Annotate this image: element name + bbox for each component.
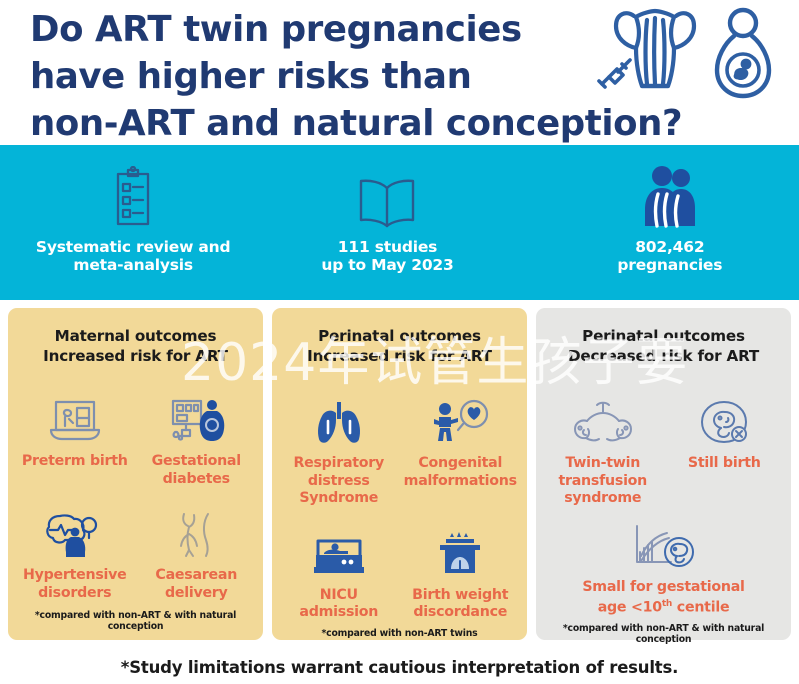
outcome-label-line: Caesarean [138, 567, 256, 585]
page-title: Do ART twin pregnancies have higher risk… [30, 6, 620, 147]
uterus-syringe-icon [592, 4, 710, 100]
outcome-label-line: Syndrome [280, 490, 398, 508]
glucose-monitor-icon [138, 394, 256, 446]
stat-line: up to May 2023 [264, 256, 510, 274]
outcome-label-line: transfusion [544, 473, 662, 491]
outcome-label: Hypertensive disorders [16, 567, 134, 602]
stats-band: Systematic review and meta-analysis 111 … [0, 145, 799, 300]
baby-weight-scale-icon [402, 528, 520, 580]
blood-pressure-icon [16, 508, 134, 560]
panel-maternal-outcomes: Maternal outcomes Increased risk for ART [8, 308, 263, 640]
stat-label: Systematic review and meta-analysis [10, 238, 256, 274]
outcome-label: Congenital malformations [402, 455, 520, 490]
pregnant-person-icon [708, 6, 778, 102]
panel-title-line: Decreased risk for ART [542, 346, 785, 366]
stat-line: 802,462 [547, 238, 793, 256]
outcome-label-line: diabetes [138, 471, 256, 489]
sga-age-text: age <10 [598, 600, 662, 616]
baby-heart-icon [402, 396, 520, 448]
twin-fetuses-icon [544, 396, 662, 448]
nicu-incubator-icon [280, 528, 398, 580]
outcome-label: Caesarean delivery [138, 567, 256, 602]
outcome-label-line: syndrome [544, 490, 662, 508]
outcome-label-line: Respiratory distress [280, 455, 398, 490]
outcome-label: Still birth [666, 455, 784, 473]
outcome-label: Gestational diabetes [138, 453, 256, 488]
outcome-label-line: Preterm birth [16, 453, 134, 471]
outcome-label: Preterm birth [16, 453, 134, 471]
incubator-laptop-icon [16, 394, 134, 446]
outcome-twin-twin-transfusion-syndrome: Twin-twin transfusion syndrome [542, 396, 664, 508]
stat-label: 802,462 pregnancies [547, 238, 793, 274]
outcome-gestational-diabetes: Gestational diabetes [136, 394, 258, 488]
stat-systematic-review: Systematic review and meta-analysis [10, 164, 256, 274]
title-line-2: have higher risks than [30, 53, 620, 100]
outcome-congenital-malformations: Congenital malformations [400, 396, 522, 508]
outcome-label: Respiratory distress Syndrome [280, 455, 398, 508]
two-people-icon [547, 164, 793, 228]
caesarean-scar-icon [138, 508, 256, 560]
panel-title-line: Increased risk for ART [278, 346, 521, 366]
outcome-label: NICU admission [280, 587, 398, 622]
outcome-label-line: Gestational [138, 453, 256, 471]
outcome-birth-weight-discordance: Birth weight discordance [400, 528, 522, 622]
outcome-preterm-birth: Preterm birth [14, 394, 136, 488]
outcome-grid: Twin-twin transfusion syndrome [542, 374, 785, 623]
panel-footnote: *compared with non-ART twins [278, 628, 521, 647]
panel-title-line: Perinatal outcomes [278, 326, 521, 346]
outcome-respiratory-distress-syndrome: Respiratory distress Syndrome [278, 396, 400, 508]
outcome-label-line: Still birth [666, 455, 784, 473]
panel-perinatal-decreased: Perinatal outcomes Decreased risk for AR… [536, 308, 791, 640]
panel-title: Maternal outcomes Increased risk for ART [14, 326, 257, 366]
outcome-nicu-admission: NICU admission [278, 528, 400, 622]
outcome-label-line: Twin-twin [544, 455, 662, 473]
panel-title-line: Perinatal outcomes [542, 326, 785, 346]
title-line-1: Do ART twin pregnancies [30, 6, 620, 53]
outcome-label-line: disorders [16, 585, 134, 603]
sga-centile-text: centile [677, 600, 730, 616]
header-icon-group [592, 4, 792, 100]
outcome-grid: Respiratory distress Syndrome [278, 374, 521, 628]
outcome-caesarean-delivery: Caesarean delivery [136, 508, 258, 602]
open-book-icon [264, 164, 510, 228]
panel-title: Perinatal outcomes Increased risk for AR… [278, 326, 521, 366]
panel-title: Perinatal outcomes Decreased risk for AR… [542, 326, 785, 366]
panel-title-line: Maternal outcomes [14, 326, 257, 346]
outcome-label-line: NICU admission [280, 587, 398, 622]
stat-line: 111 studies [264, 238, 510, 256]
outcome-label-line: Hypertensive [16, 567, 134, 585]
stat-line: pregnancies [547, 256, 793, 274]
outcome-label-line: Small for gestational [544, 579, 783, 597]
outcome-label: Birth weight discordance [402, 587, 520, 622]
outcome-label-line: age <10th centile [544, 596, 783, 617]
outcome-label: Small for gestational age <10th centile [544, 579, 783, 618]
outcome-hypertensive-disorders: Hypertensive disorders [14, 508, 136, 602]
clipboard-checklist-icon [10, 164, 256, 228]
outcome-small-for-gestational-age: Small for gestational age <10th centile [542, 520, 785, 618]
outcome-label-line: delivery [138, 585, 256, 603]
outcome-label-line: discordance [402, 604, 520, 622]
header: Do ART twin pregnancies have higher risk… [0, 0, 799, 145]
outcome-grid: Preterm birth [14, 374, 257, 610]
stat-studies: 111 studies up to May 2023 [264, 164, 510, 274]
growth-chart-fetus-icon [544, 520, 783, 572]
panel-perinatal-increased: Perinatal outcomes Increased risk for AR… [272, 308, 527, 640]
outcome-panels: Maternal outcomes Increased risk for ART [0, 300, 799, 640]
outcome-label: Twin-twin transfusion syndrome [544, 455, 662, 508]
sga-superscript: th [662, 599, 672, 609]
stillbirth-icon [666, 396, 784, 448]
outcome-label-line: malformations [402, 473, 520, 491]
outcome-label-line: Congenital [402, 455, 520, 473]
stat-label: 111 studies up to May 2023 [264, 238, 510, 274]
panel-footnote: *compared with non-ART & with natural co… [542, 623, 785, 653]
outcome-still-birth: Still birth [664, 396, 786, 508]
lungs-icon [280, 396, 398, 448]
stat-line: meta-analysis [10, 256, 256, 274]
stat-pregnancies: 802,462 pregnancies [547, 164, 793, 274]
panel-footnote: *compared with non-ART & with natural co… [14, 610, 257, 640]
title-line-3: non-ART and natural conception? [30, 100, 620, 147]
stat-line: Systematic review and [10, 238, 256, 256]
panel-title-line: Increased risk for ART [14, 346, 257, 366]
outcome-label-line: Birth weight [402, 587, 520, 605]
